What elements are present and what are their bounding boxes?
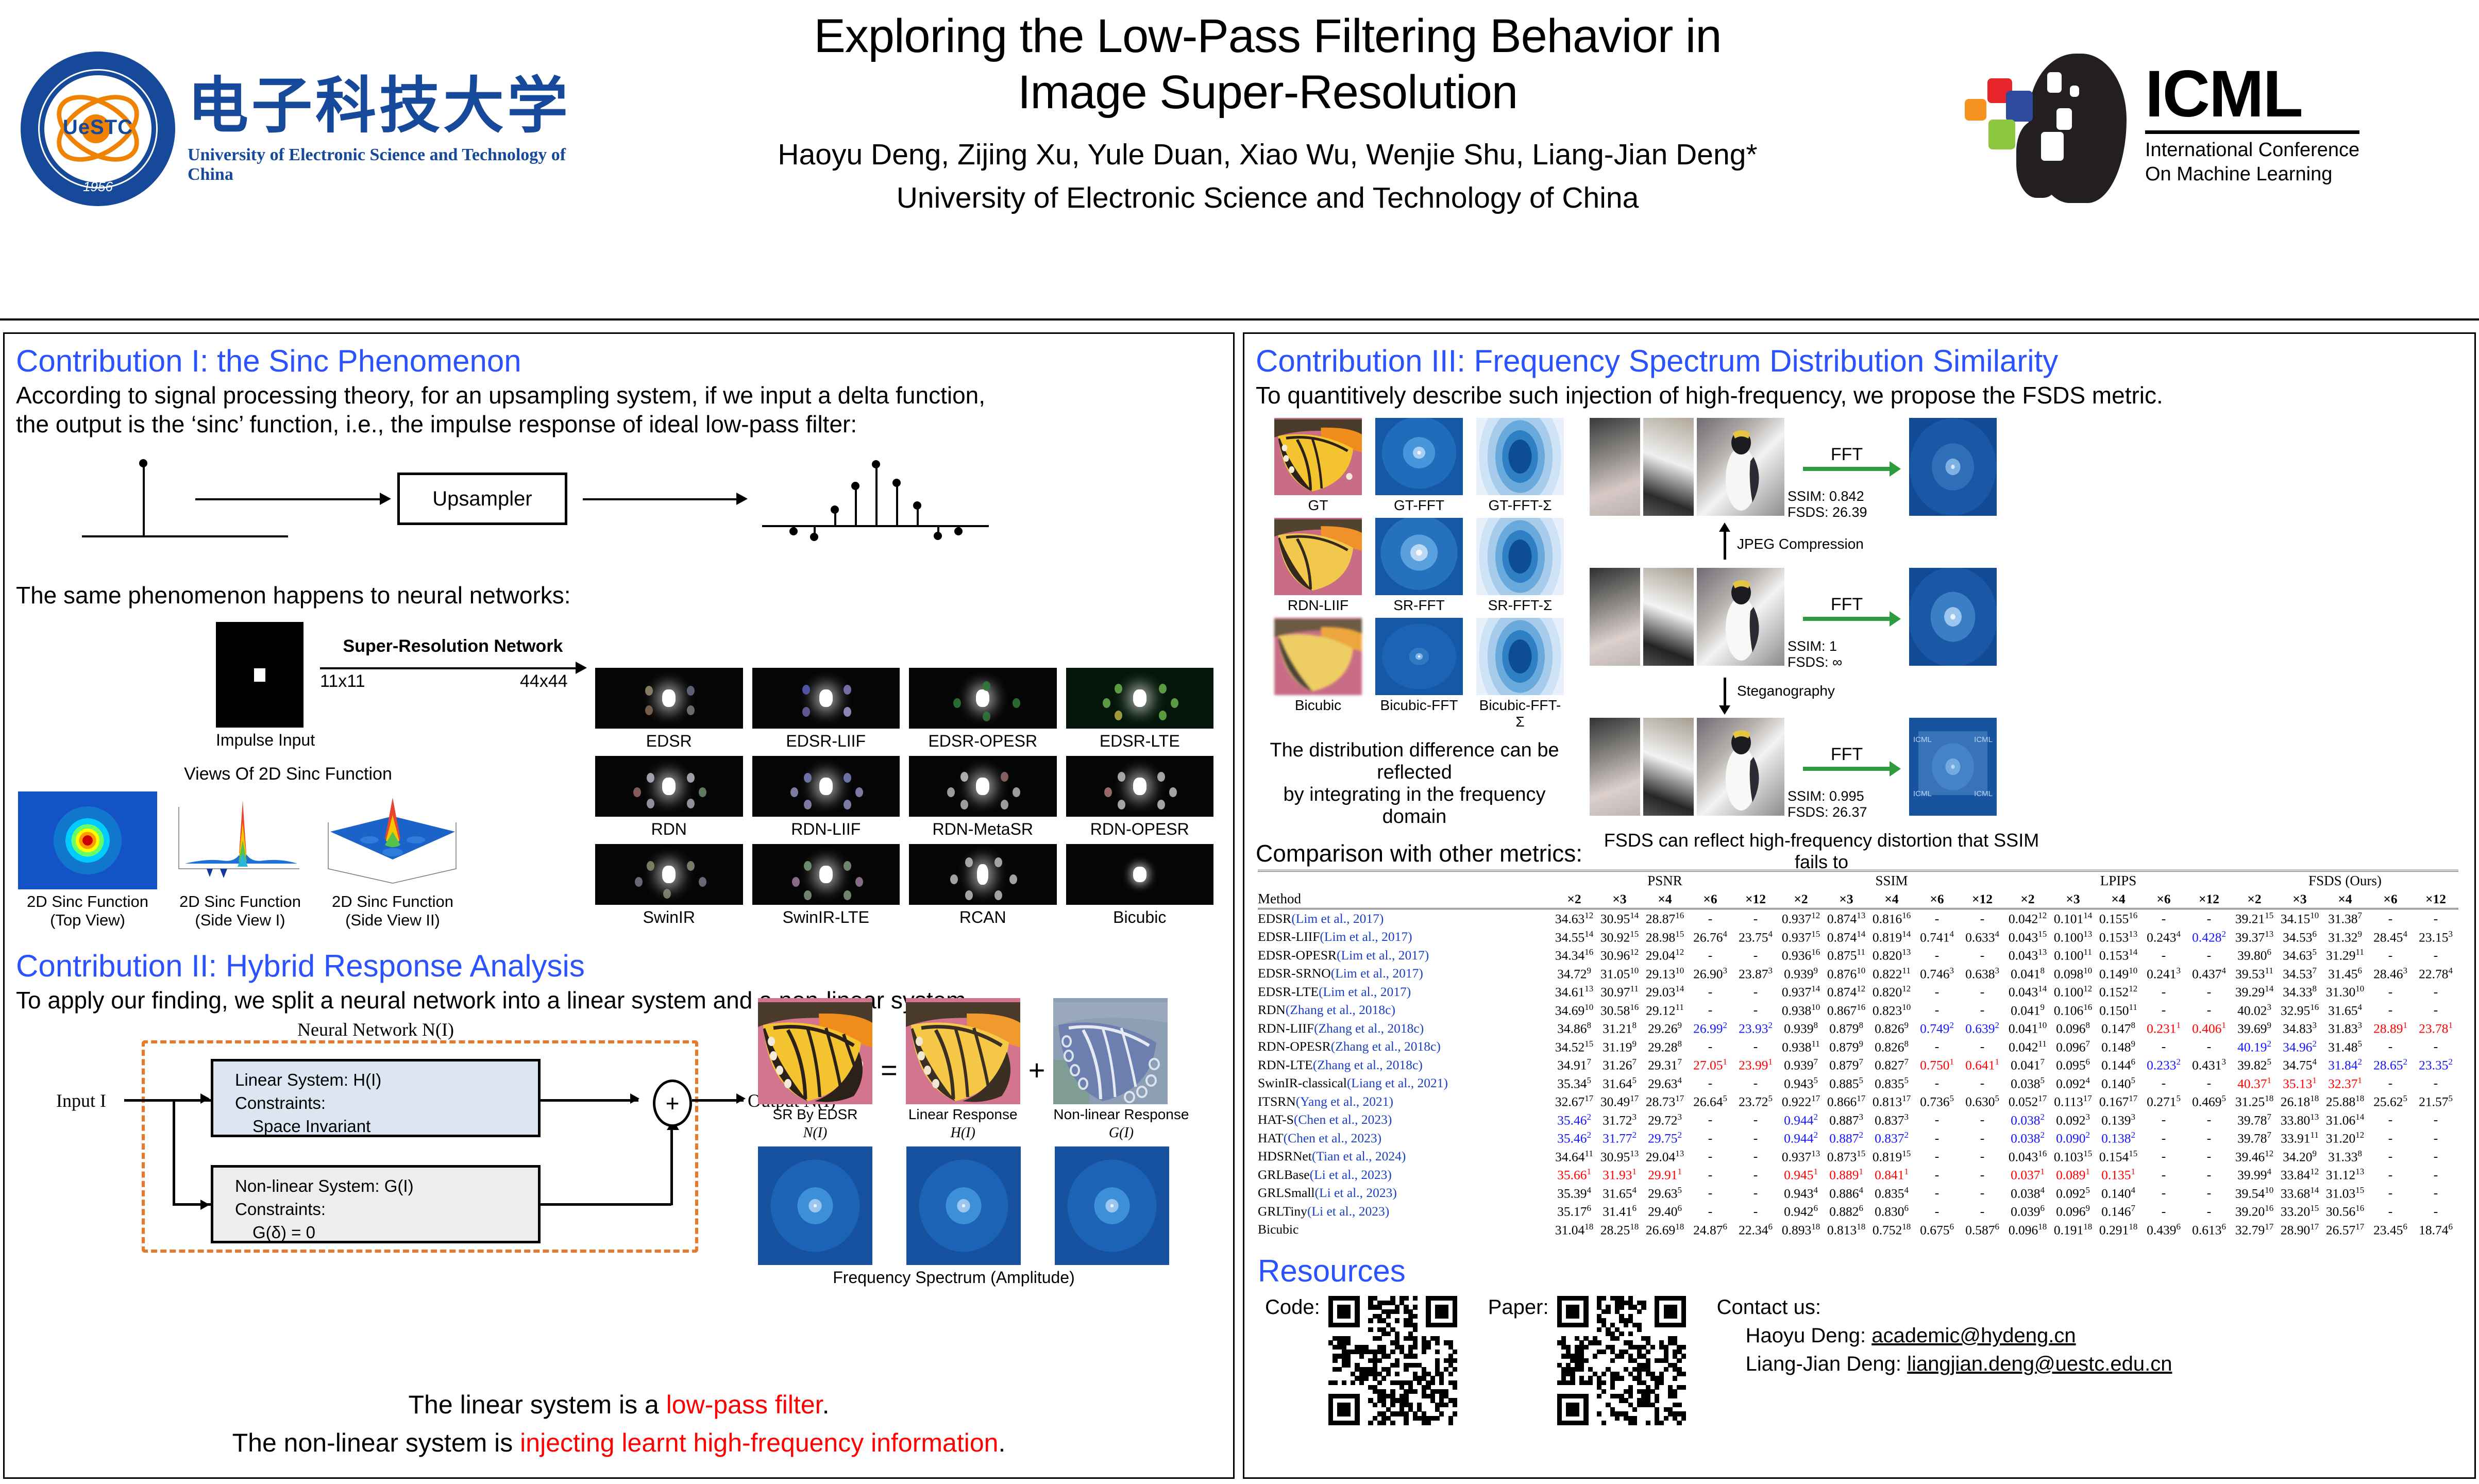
metric-cell: - [1914,1074,1960,1093]
metric-cell: 0.8826 [1824,1202,1869,1221]
metric-cell: 0.9435 [1778,1074,1824,1093]
metric-cell: 0.4061 [2186,1019,2232,1038]
metric-cell: 39.5311 [2232,965,2277,983]
contact-block: Contact us: Haoyu Deng: academic@hydeng.… [1717,1296,2172,1376]
code-qr-code[interactable] [1328,1296,1457,1425]
metric-cell: - [1914,909,1960,928]
metric-cell: 34.6910 [1552,1001,1597,1020]
metric-cell: - [1688,909,1733,928]
butterfly-caption-l1: Non-linear Response [1053,1106,1189,1123]
metric-cell: 0.09810 [2050,965,2096,983]
metric-cell: 0.4313 [2186,1056,2232,1074]
metric-group-lpips: LPIPS [2005,871,2232,890]
bird-image-original [1697,568,1784,666]
bird-crop-6 [1643,718,1694,816]
sr-output-cell: Bicubic [1066,844,1214,927]
fft-grid-cell: Bicubic [1274,618,1362,730]
metric-cell: 0.10616 [2050,1001,2096,1020]
metric-cell: 0.6756 [1914,1221,1960,1239]
linear-system-title: Linear System: H(I) [235,1069,538,1092]
sr-output-cell: SwinIR [595,844,743,927]
fft-arrow-label: FFT [1787,445,1906,465]
metric-cell: 0.9442 [1778,1129,1824,1148]
metric-cell: 0.82012 [1869,983,1914,1001]
metrics-table: PSNR SSIM LPIPS FSDS (Ours) Method ×2 ×3… [1258,870,2458,1239]
metric-cell: - [1960,1038,2005,1056]
metric-cell: - [2141,1038,2186,1056]
poster-root: UeSTC 1956 电子科技大学 University of Electron… [0,0,2479,1484]
metric-cell: - [1733,1129,1778,1148]
metric-cell: 29.0314 [1642,983,1688,1001]
sr-output-label: RDN-LIIF [752,820,900,839]
metric-cell: 39.2914 [2232,983,2277,1001]
metric-cell: 39.994 [2232,1166,2277,1184]
col-lpips-x2: ×2 [2005,890,2050,909]
conclusion-2-prefix: The non-linear system is [232,1428,520,1457]
method-name: RDN-OPESR(Zhang et al., 2018c) [1258,1038,1552,1056]
uestc-english-name: University of Electronic Science and Tec… [188,145,608,184]
paper-label: Paper: [1488,1296,1549,1319]
metric-cell: - [2141,1148,2186,1166]
fft-arrow-label: FFT [1787,595,1906,615]
metric-cell: 31.218 [1597,1019,1642,1038]
butterfly-caption-l2: H(I) [906,1125,1020,1141]
conclusion-1-highlight: low-pass filter [666,1390,822,1419]
metric-cell: 0.81914 [1869,928,1914,947]
metric-cell: 0.10114 [2050,909,2096,928]
metric-cell: 0.04315 [2005,928,2050,947]
contribution2-title: Contribution II: Hybrid Response Analysi… [5,939,1233,986]
metric-cell: 31.723 [1597,1111,1642,1129]
metric-cell: - [1733,1184,1778,1203]
metric-cell: - [2141,1001,2186,1020]
linear-system-constraint: Space Invariant [235,1115,538,1138]
metric-cell: 24.876 [1688,1221,1733,1239]
sr-output-label: SwinIR-LTE [752,908,900,927]
metric-cell: - [2141,1129,2186,1148]
paper-qr-code[interactable] [1557,1296,1686,1425]
metric-cell: 0.15516 [2096,909,2141,928]
metric-cell: 0.1393 [2096,1111,2141,1129]
sr-output-label: RCAN [909,908,1057,927]
metric-cell: - [2186,1148,2232,1166]
metric-cell: 35.131 [2277,1074,2322,1093]
sinc-view-caption-l2: (Side View I) [171,911,310,930]
distribution-note-line1: The distribution difference can be refle… [1260,739,1569,784]
metric-cell: 31.416 [1597,1202,1642,1221]
metric-cell: 0.7492 [1914,1019,1960,1038]
sr-output-label: RDN [595,820,743,839]
metric-cell: 0.93715 [1778,928,1824,947]
metric-cell: 0.0924 [2050,1074,2096,1093]
metric-cell: 0.04314 [2005,983,2050,1001]
method-name: EDSR-LTE(Lim et al., 2017) [1258,983,1552,1001]
metric-cell: 28.463 [2368,965,2413,983]
metric-cell: 0.9426 [1778,1202,1824,1221]
metric-cell: - [1733,946,1778,965]
metric-cell: 34.868 [1552,1019,1597,1038]
nonlinear-system-block: Non-linear System: G(I) Constraints: G(δ… [211,1165,541,1243]
plus-icon: + [666,1089,680,1117]
butterfly-caption-l1: Linear Response [906,1106,1020,1123]
conclusion-line-1: The linear system is a low-pass filter. [5,1390,1233,1420]
sinc-view-item: 2D Sinc Function (Top View) [18,791,157,930]
col-ssim-x3: ×3 [1824,890,1869,909]
metric-cell: 23.153 [2413,928,2458,947]
icml-wordmark: ICML [2145,61,2359,127]
sinc-sideview2-image [323,791,462,889]
metric-cell: 0.10012 [2050,983,2096,1001]
metric-cell: - [1914,1038,1960,1056]
metric-cell: - [2186,983,2232,1001]
metric-cell: 0.8797 [1824,1056,1869,1074]
metric-cell: 33.9111 [2277,1129,2322,1148]
metric-cell: - [1960,1111,2005,1129]
metric-cell: 29.269 [1642,1019,1688,1038]
spectrum-caption: Frequency Spectrum (Amplitude) [758,1268,1150,1287]
metric-cell: - [1914,1001,1960,1020]
col-fsds-x6: ×6 [2368,890,2413,909]
sr-network-arrow-label: Super-Resolution Network [314,636,592,656]
metric-cell: - [2141,1184,2186,1203]
table-row: SwinIR-classical(Liang et al., 2021)35.3… [1258,1074,2458,1093]
table-row: EDSR-LTE(Lim et al., 2017)34.611330.9711… [1258,983,2458,1001]
metric-cell: 0.9397 [1778,1056,1824,1074]
sr-output-cell: EDSR-LTE [1066,668,1214,751]
jpeg-compression-label: JPEG Compression [1737,536,1864,552]
sinc-view-item: 2D Sinc Function (Side View I) [171,791,310,930]
contact-1-email[interactable]: academic@hydeng.cn [1871,1324,2076,1347]
table-row: HDSRNet(Tian et al., 2024)34.641130.9513… [1258,1148,2458,1166]
bird-demo-note: FSDS can reflect high-frequency distorti… [1590,830,2053,873]
resources-title: Resources [1244,1246,2474,1292]
metric-cell: 0.0382 [2005,1111,2050,1129]
metric-cell: - [2413,1038,2458,1056]
ssim-value: SSIM: 1 [1787,638,1906,654]
fft-grid-cell: Bicubic-FFT-Σ [1476,618,1564,730]
rdn-liif-image [1274,518,1362,595]
metric-cell: - [1914,1166,1960,1184]
metric-cell: - [2413,946,2458,965]
sr-output-cell: EDSR-LIIF [752,668,900,751]
metric-cell: 0.1489 [2096,1038,2141,1056]
metric-cell: - [1733,1074,1778,1093]
uestc-wordmark: UeSTC [21,116,175,139]
metric-cell: 34.6312 [1552,909,1597,928]
metric-cell: - [2186,1001,2232,1020]
metric-cell: 35.462 [1552,1129,1597,1148]
fft-grid-label: Bicubic-FFT [1375,697,1463,714]
metric-cell: 25.8818 [2322,1092,2368,1111]
metric-cell: 0.9398 [1778,1019,1824,1038]
method-name: RDN(Zhang et al., 2018c) [1258,1001,1552,1020]
contact-2-email[interactable]: liangjian.deng@uestc.edu.cn [1907,1353,2172,1375]
metric-cell: 23.932 [1733,1019,1778,1038]
metric-cell: 0.1478 [2096,1019,2141,1038]
metric-cell: 33.8013 [2277,1111,2322,1129]
col-lpips-x4: ×4 [2096,890,2141,909]
hybrid-response-diagram: Neural Network N(I) Input I Linear Syste… [46,1019,767,1261]
sr-output-cell: EDSR [595,668,743,751]
metric-cell: 34.1510 [2277,909,2322,928]
metric-cell: 0.4396 [2141,1221,2186,1239]
metric-cell: 26.1818 [2277,1092,2322,1111]
metric-cell: - [2413,909,2458,928]
metric-cell: 39.825 [2232,1056,2277,1074]
metric-cell: - [2186,1202,2232,1221]
metric-cell: 32.7917 [2232,1221,2277,1239]
metric-cell: 0.19118 [2050,1221,2096,1239]
metric-cell: - [2413,1184,2458,1203]
metric-cell: 39.3713 [2232,928,2277,947]
metric-cell: 35.661 [1552,1166,1597,1184]
metric-cell: 34.536 [2277,928,2322,947]
metric-cell: 0.82211 [1869,965,1914,983]
metric-cell: 34.754 [2277,1056,2322,1074]
metric-cell: 31.485 [2322,1038,2368,1056]
metric-cell: 34.209 [2277,1148,2322,1166]
metric-cell: 0.8277 [1869,1056,1914,1074]
jpeg-transform-arrow: JPEG Compression [1590,528,2053,561]
metric-cell: 0.6411 [1960,1056,2005,1074]
fft-arrow-icon [1803,767,1891,771]
metric-cell: 0.09618 [2005,1221,2050,1239]
poster-header: UeSTC 1956 电子科技大学 University of Electron… [0,0,2479,321]
metric-cell: - [1960,1074,2005,1093]
metric-cell: 40.371 [2232,1074,2277,1093]
fft-grid-cell: SR-FFT-Σ [1476,518,1564,614]
table-row: RDN-OPESR(Zhang et al., 2018c)34.521531.… [1258,1038,2458,1056]
metric-cell: 31.931 [1597,1166,1642,1184]
metric-cell: 0.8411 [1869,1166,1914,1184]
metric-cell: 32.371 [2322,1074,2368,1093]
steganography-transform-arrow: Steganography [1590,678,2053,711]
metric-cell: 28.9017 [2277,1221,2322,1239]
metric-group-ssim: SSIM [1778,871,2005,890]
metric-cell: 34.5215 [1552,1038,1597,1056]
steganography-label: Steganography [1737,683,1835,699]
page-title: Exploring the Low-Pass Filtering Behavio… [618,8,1917,120]
metric-cell: - [1914,1202,1960,1221]
metric-cell: - [2141,1166,2186,1184]
col-psnr-x6: ×6 [1688,890,1733,909]
table-row: GRLTiny(Li et al., 2023)35.17631.41629.4… [1258,1202,2458,1221]
metric-cell: 0.10315 [2050,1148,2096,1166]
metric-cell: - [1733,1148,1778,1166]
fft-grid-label: RDN-LIIF [1274,597,1362,614]
metric-cell: - [2368,1111,2413,1129]
metric-cell: - [2368,1001,2413,1020]
gt-fft-sigma-image [1476,418,1564,495]
metric-cell: 0.11317 [2050,1092,2096,1111]
metric-cell: 31.772 [1597,1129,1642,1148]
metric-cell: - [1688,1148,1733,1166]
metric-cell: - [1914,1129,1960,1148]
metric-cell: 0.81318 [1824,1221,1869,1239]
metric-cell: 0.87315 [1824,1148,1869,1166]
metric-cell: - [1960,946,2005,965]
metric-cell: - [1688,1184,1733,1203]
metric-cell: 0.0382 [2005,1129,2050,1148]
ssim-value: SSIM: 0.995 [1787,788,1906,804]
uestc-logo: UeSTC 1956 电子科技大学 University of Electron… [21,21,608,237]
metric-cell: 34.635 [2277,946,2322,965]
metric-cell: 30.9711 [1597,983,1642,1001]
nonlinear-system-constraint: G(δ) = 0 [235,1221,538,1244]
metric-cell: 0.93810 [1778,1001,1824,1020]
code-label: Code: [1265,1296,1320,1319]
metric-cell: 0.1405 [2096,1074,2141,1093]
metric-cell: 0.87413 [1824,909,1869,928]
metric-cell: 0.81915 [1869,1148,1914,1166]
metric-cell: 0.0969 [2050,1202,2096,1221]
metric-cell: 0.0384 [2005,1184,2050,1203]
bicubic-fft-image [1375,618,1463,695]
metric-cell: 33.8412 [2277,1166,2322,1184]
metric-cell: 31.0510 [1597,965,1642,983]
contact-1-name: Haoyu Deng: [1746,1324,1872,1347]
sr-output-cell: RDN-OPESR [1066,756,1214,839]
metric-cell: - [2368,1148,2413,1166]
metric-cell: - [2413,1202,2458,1221]
fsds-value: FSDS: 26.39 [1787,504,1906,520]
bird-row: FFT SSIM: 0.842 FSDS: 26.39 [1590,418,2053,520]
metric-cell: 31.199 [1597,1038,1642,1056]
fft-grid-cell: Bicubic-FFT [1375,618,1463,730]
fft-arrow-icon [1803,617,1891,621]
metric-cell: - [1960,983,2005,1001]
table-row: ITSRN(Yang et al., 2021)32.671730.491728… [1258,1092,2458,1111]
metric-cell: 0.15415 [2096,1148,2141,1166]
metric-cell: - [1914,946,1960,965]
metric-group-psnr: PSNR [1552,871,1778,890]
icml-logo: ICML International Conference On Machine… [1969,31,2458,216]
metric-cell: - [2141,983,2186,1001]
fft-grid-label: GT-FFT-Σ [1476,497,1564,514]
butterfly-item: SR By EDSR N(I) [758,998,872,1141]
metric-cell: 29.1211 [1642,1001,1688,1020]
metric-cell: 0.1382 [2096,1129,2141,1148]
metric-cell: 0.82310 [1869,1001,1914,1020]
metric-cell: 21.575 [2413,1092,2458,1111]
col-ssim-x4: ×4 [1869,890,1914,909]
metric-cell: 0.8354 [1869,1184,1914,1203]
metric-cell: 26.903 [1688,965,1733,983]
metric-cell: 0.15314 [2096,946,2141,965]
metric-cell: 0.9399 [1778,965,1824,983]
upsampler-diagram: Upsampler [25,448,1212,577]
contribution1-nn-text: The same phenomenon happens to neural ne… [5,581,1233,610]
method-name: GRLTiny(Li et al., 2023) [1258,1202,1552,1221]
metric-cell: 30.5616 [2322,1202,2368,1221]
metric-cell: 31.842 [2322,1056,2368,1074]
metric-cell: 0.7414 [1914,928,1960,947]
metric-cell: - [2368,1038,2413,1056]
metric-cell: 31.833 [2322,1019,2368,1038]
col-lpips-x12: ×12 [2186,890,2232,909]
metric-cell: 0.29118 [2096,1221,2141,1239]
metric-cell: 0.93811 [1778,1038,1824,1056]
fft-grid-label: GT [1274,497,1362,514]
metric-cell: 40.023 [2232,1001,2277,1020]
metric-cell: - [1733,1202,1778,1221]
metric-cell: 34.537 [2277,965,2322,983]
metric-cell: 0.2311 [2141,1019,2186,1038]
metric-cell: 23.352 [2413,1056,2458,1074]
metric-cell: 0.0956 [2050,1056,2096,1074]
metric-cell: - [1733,1038,1778,1056]
linear-response-image [906,998,1020,1104]
fft-grid-label: Bicubic [1274,697,1362,714]
metric-cell: 23.725 [1733,1092,1778,1111]
metric-cell: 0.75218 [1869,1221,1914,1239]
butterfly-decomposition: SR By EDSR N(I) = [758,998,1189,1287]
metric-cell: 0.93712 [1778,909,1824,928]
metric-cell: 0.15313 [2096,928,2141,947]
metric-cell: 39.699 [2232,1019,2277,1038]
sinc-topview-image [18,791,157,889]
uestc-year: 1956 [21,179,175,195]
metric-cell: - [2186,1074,2232,1093]
metric-cell: 0.8373 [1869,1111,1914,1129]
sr-output-label: EDSR-LTE [1066,732,1214,751]
metric-cell: 0.0385 [2005,1074,2050,1093]
metric-cell: 0.4374 [2186,965,2232,983]
metric-cell: 0.2332 [2141,1056,2186,1074]
contribution1-intro-line2: the output is the ‘sinc’ function, i.e.,… [16,410,1222,439]
metric-cell: - [2368,1129,2413,1148]
method-name: HDSRNet(Tian et al., 2024) [1258,1148,1552,1166]
metric-cell: 0.8798 [1824,1019,1869,1038]
bird-fft-2 [1909,568,1997,666]
metric-cell: 0.4282 [2186,928,2232,947]
metric-cell: 23.991 [1733,1056,1778,1074]
summation-node: + [653,1080,692,1127]
method-name: GRLSmall(Li et al., 2023) [1258,1184,1552,1203]
metric-cell: 39.806 [2232,946,2277,965]
metric-cell: 0.8864 [1824,1184,1869,1203]
metric-cell: - [2186,909,2232,928]
sr-edsr-image [758,998,872,1104]
metric-cell: - [1688,1129,1733,1148]
contact-label: Contact us: [1717,1296,2172,1319]
bird-fft-1 [1909,418,1997,516]
metric-cell: 29.723 [1642,1111,1688,1129]
metric-cell: 29.1310 [1642,965,1688,983]
metric-cell: 18.746 [2413,1221,2458,1239]
metric-cell: 0.6305 [1960,1092,2005,1111]
metric-cell: 0.7501 [1914,1056,1960,1074]
metric-cell: 0.7463 [1914,965,1960,983]
metric-cell: - [2186,1129,2232,1148]
metric-cell: 34.833 [2277,1019,2322,1038]
metric-cell: 0.04313 [2005,946,2050,965]
metric-cell: 0.0419 [2005,1001,2050,1020]
metric-cell: - [1960,1129,2005,1148]
metric-cell: 0.04316 [2005,1148,2050,1166]
page-title-line2: Image Super-Resolution [1018,66,1517,119]
metric-cell: 28.2518 [1597,1221,1642,1239]
metric-cell: 33.2015 [2277,1202,2322,1221]
metric-cell: - [1960,1001,2005,1020]
metric-cell: 0.8306 [1869,1202,1914,1221]
linear-system-constraints-label: Constraints: [235,1092,538,1115]
bird-fsds-demo: FFT SSIM: 0.842 FSDS: 26.39 JPEG Compres… [1590,418,2053,873]
metric-cell: 0.16717 [2096,1092,2141,1111]
metric-cell: 0.15011 [2096,1001,2141,1020]
metric-group-fsds: FSDS (Ours) [2232,871,2458,890]
metric-cell: 26.645 [1688,1092,1733,1111]
